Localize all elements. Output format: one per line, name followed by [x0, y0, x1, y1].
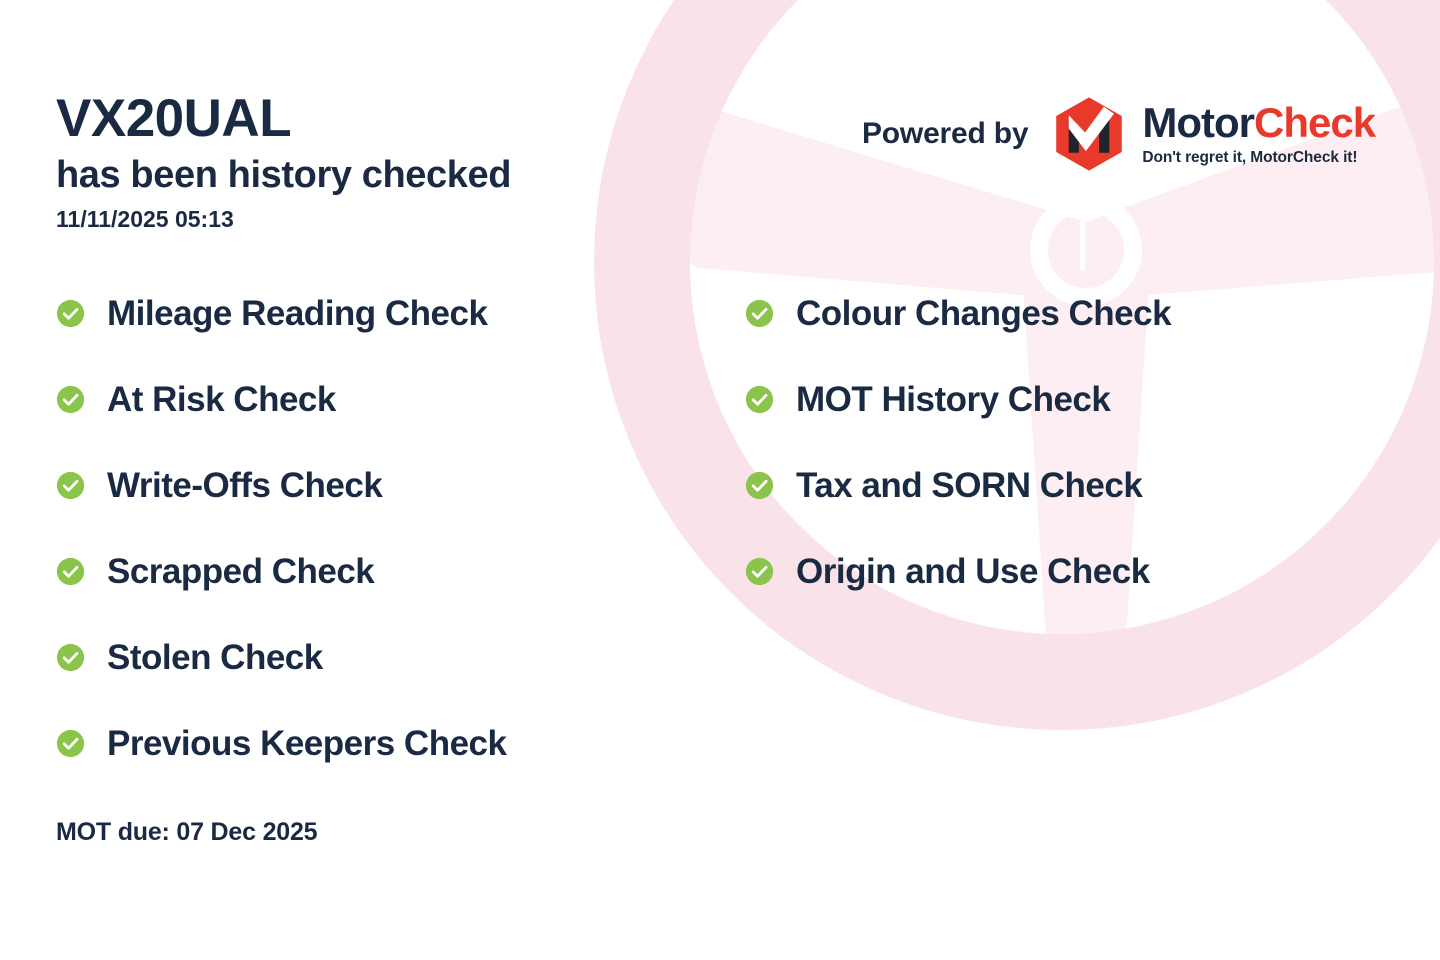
check-list-left-column: Mileage Reading Check At Risk Check Writ…: [56, 292, 696, 764]
check-item-previous-keepers: Previous Keepers Check: [56, 722, 696, 764]
powered-by-block: Powered by MotorCheck Don't regret it, M…: [862, 95, 1375, 173]
check-item-mileage-reading: Mileage Reading Check: [56, 292, 696, 334]
check-item-label: At Risk Check: [107, 382, 336, 417]
green-check-circle-icon: [56, 729, 85, 758]
history-check-summary-card: VX20UAL has been history checked 11/11/2…: [0, 0, 1440, 960]
powered-by-label: Powered by: [862, 117, 1028, 151]
check-item-stolen: Stolen Check: [56, 636, 696, 678]
check-item-label: Tax and SORN Check: [796, 468, 1142, 503]
green-check-circle-icon: [56, 471, 85, 500]
motorcheck-wordmark-block: MotorCheck Don't regret it, MotorCheck i…: [1142, 102, 1375, 167]
brand-tagline: Don't regret it, MotorCheck it!: [1142, 149, 1357, 167]
check-item-colour-changes: Colour Changes Check: [745, 292, 1385, 334]
check-timestamp: 11/11/2025 05:13: [56, 206, 696, 233]
check-list-right-column: Colour Changes Check MOT History Check T…: [745, 292, 1385, 592]
wordmark-check: Check: [1254, 99, 1375, 146]
check-item-mot-history: MOT History Check: [745, 378, 1385, 420]
check-item-write-offs: Write-Offs Check: [56, 464, 696, 506]
check-item-label: Write-Offs Check: [107, 468, 382, 503]
check-item-label: MOT History Check: [796, 382, 1110, 417]
check-item-label: Colour Changes Check: [796, 296, 1171, 331]
check-item-label: Previous Keepers Check: [107, 726, 506, 761]
check-item-label: Stolen Check: [107, 640, 323, 675]
green-check-circle-icon: [56, 299, 85, 328]
green-check-circle-icon: [745, 471, 774, 500]
green-check-circle-icon: [745, 385, 774, 414]
check-item-label: Scrapped Check: [107, 554, 374, 589]
check-item-origin-and-use: Origin and Use Check: [745, 550, 1385, 592]
header-block: VX20UAL has been history checked 11/11/2…: [56, 92, 696, 233]
check-item-scrapped: Scrapped Check: [56, 550, 696, 592]
green-check-circle-icon: [56, 557, 85, 586]
motorcheck-wordmark: MotorCheck: [1142, 102, 1375, 144]
motorcheck-hexagon-icon: [1050, 95, 1128, 173]
mot-due-note: MOT due: 07 Dec 2025: [56, 818, 317, 847]
check-item-label: Mileage Reading Check: [107, 296, 487, 331]
green-check-circle-icon: [745, 557, 774, 586]
check-item-tax-and-sorn: Tax and SORN Check: [745, 464, 1385, 506]
page-subtitle-status: has been history checked: [56, 152, 696, 198]
page-title-registration: VX20UAL: [56, 92, 696, 146]
check-item-label: Origin and Use Check: [796, 554, 1150, 589]
motorcheck-logo[interactable]: MotorCheck Don't regret it, MotorCheck i…: [1050, 95, 1375, 173]
check-item-at-risk: At Risk Check: [56, 378, 696, 420]
wordmark-motor: Motor: [1142, 99, 1254, 146]
green-check-circle-icon: [56, 643, 85, 672]
green-check-circle-icon: [745, 299, 774, 328]
green-check-circle-icon: [56, 385, 85, 414]
